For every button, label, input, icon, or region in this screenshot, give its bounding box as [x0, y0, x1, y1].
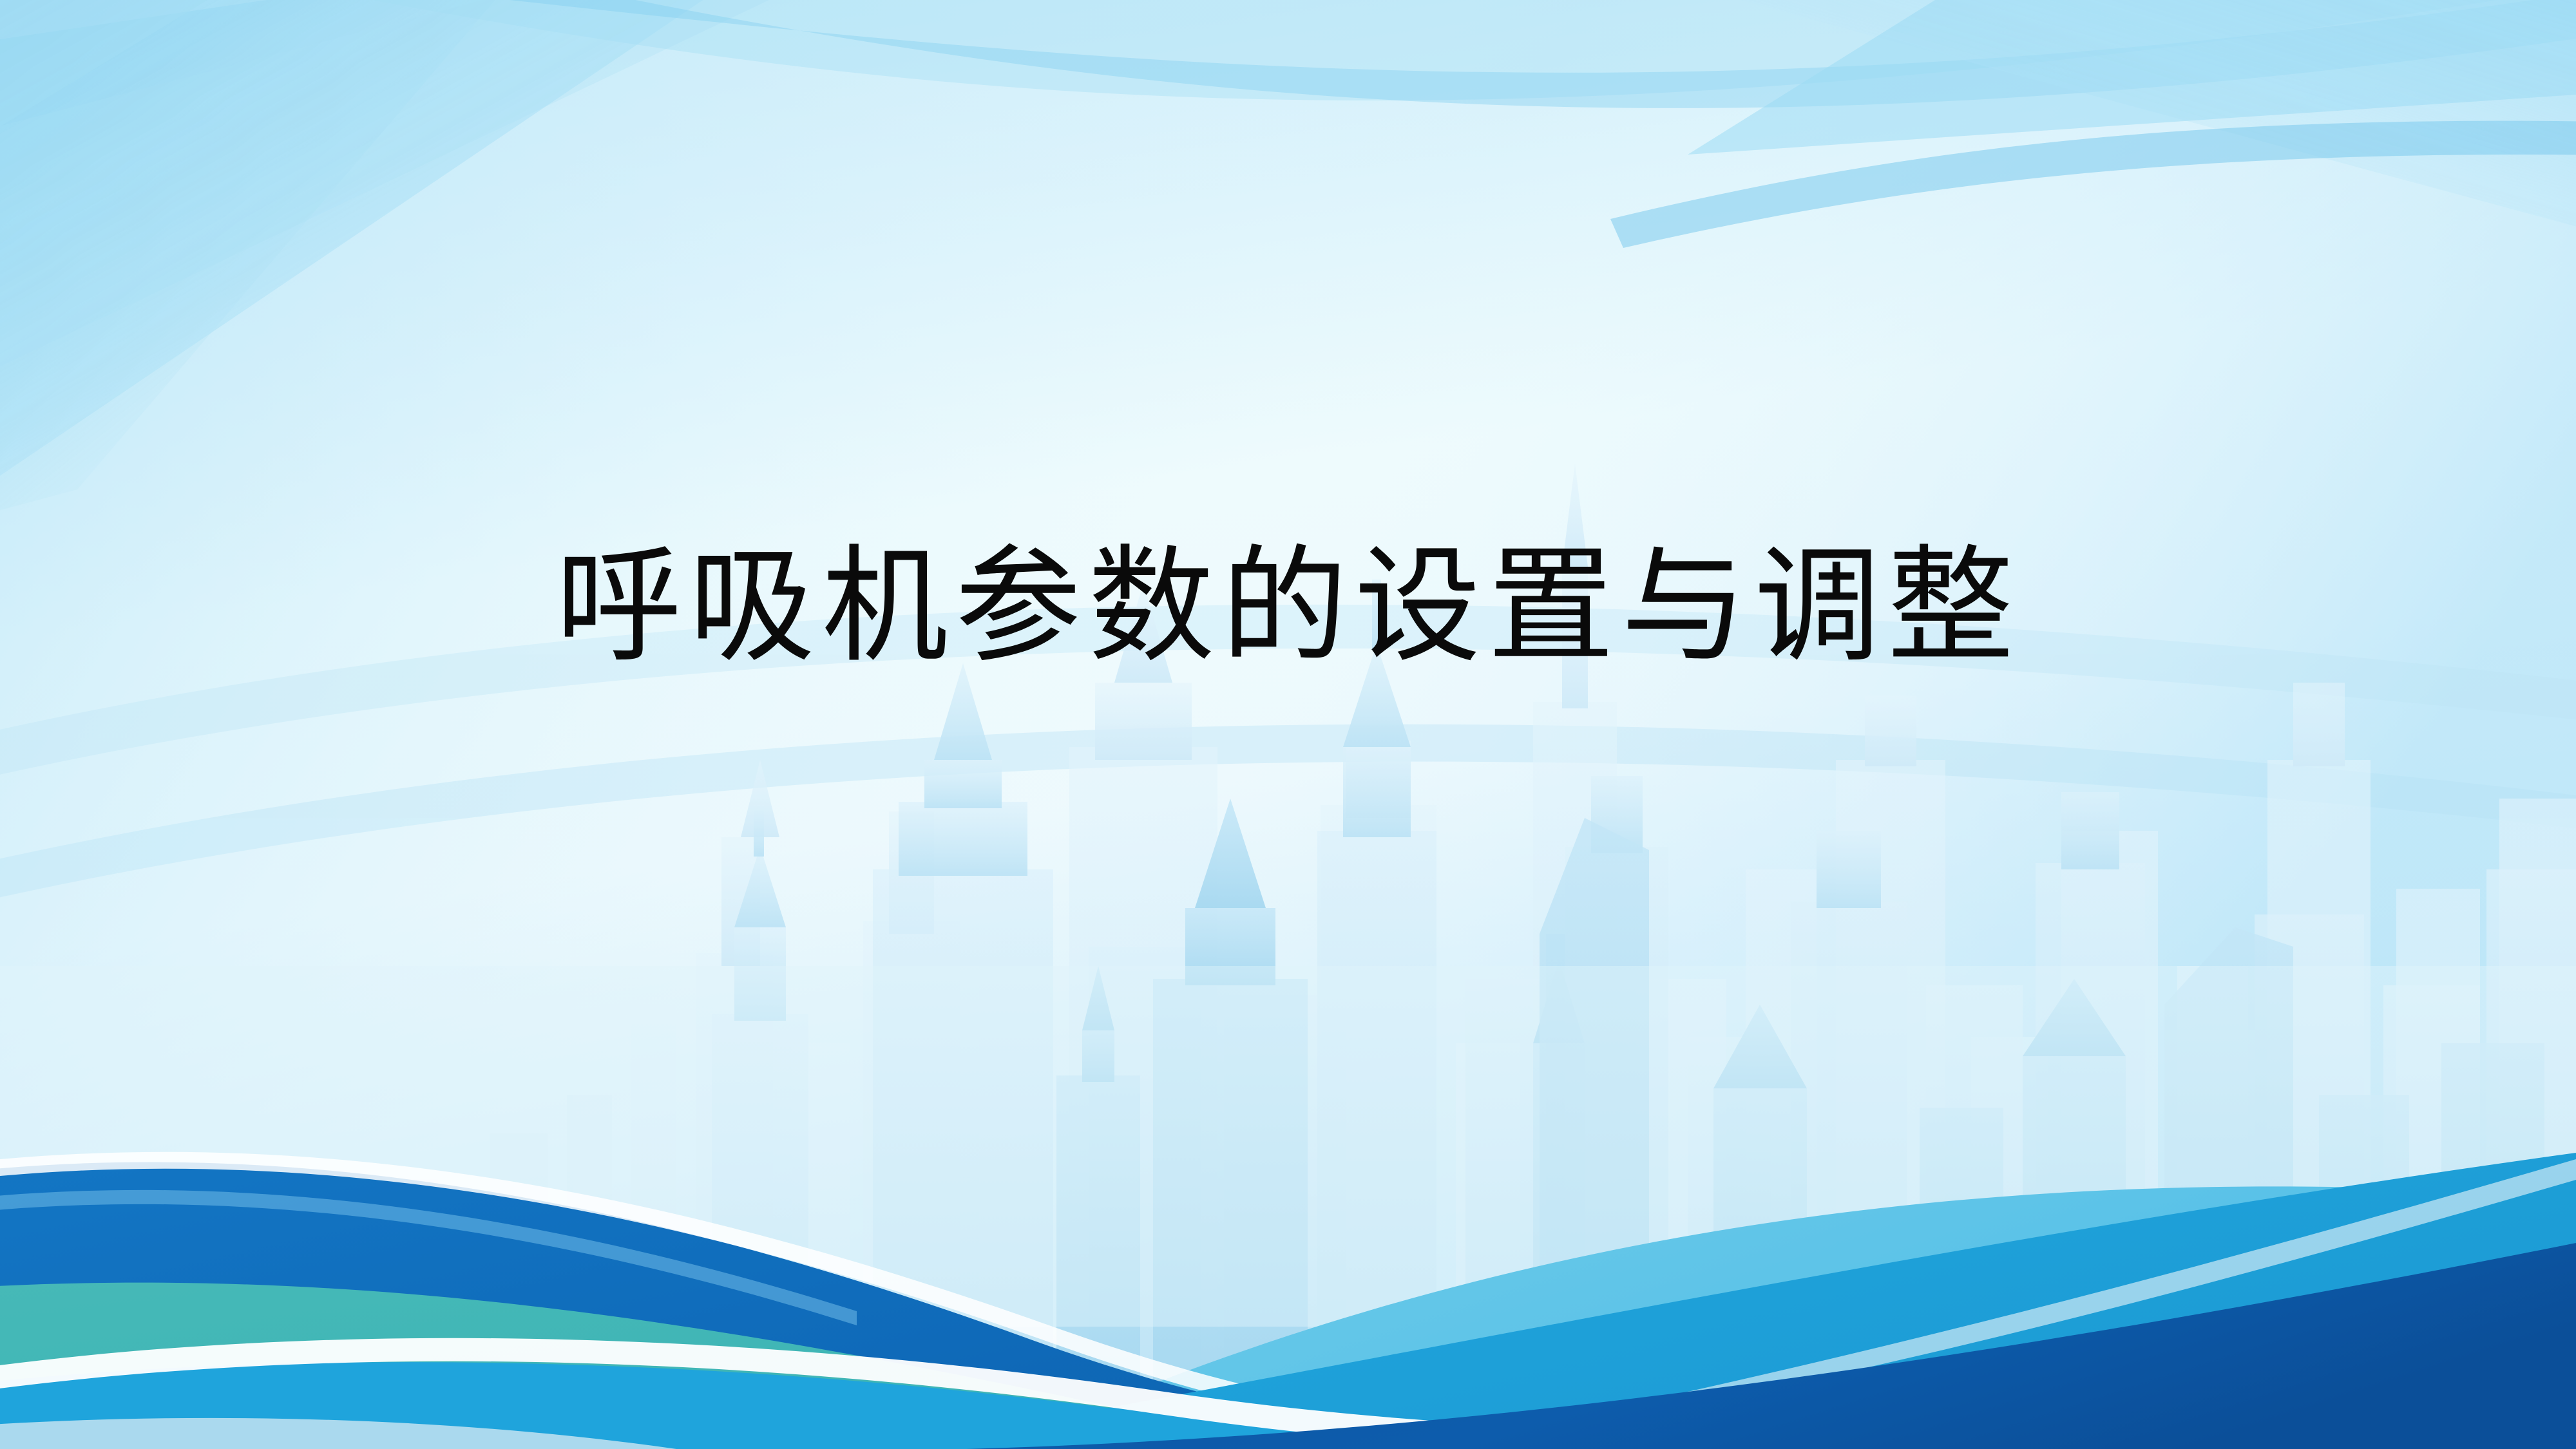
presentation-slide: 呼吸机参数的设置与调整	[0, 0, 2576, 1449]
slide-background	[0, 0, 2576, 1449]
